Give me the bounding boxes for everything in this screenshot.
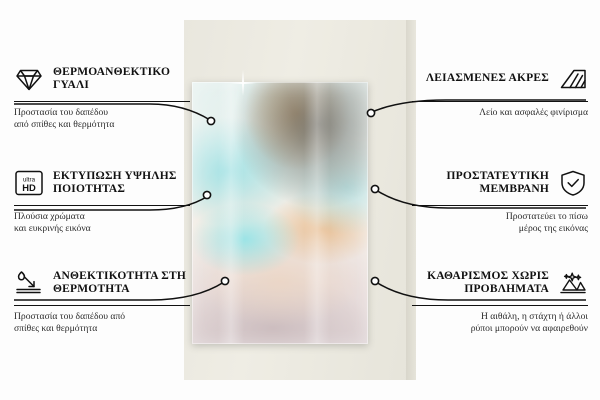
feature-header: ΠΡΟΣΤΑΤΕΥΤΙΚΗ ΜΕΜΒΡΑΝΗ bbox=[412, 166, 588, 200]
divider bbox=[412, 205, 588, 206]
divider bbox=[14, 101, 190, 102]
feature-heat-resistant-glass: ΘΕΡΜΟΑΝΘΕΚΤΙΚΟ ΓΥΑΛΙ Προστασία του δαπέδ… bbox=[14, 62, 190, 132]
feature-description: Προστασία του δαπέδου από σπίθες και θερ… bbox=[14, 311, 190, 336]
glass-edge-highlight bbox=[192, 82, 368, 344]
feature-description: Η αιθάλη, η στάχτη ή άλλοι ρύποι μπορούν… bbox=[412, 311, 588, 336]
feature-header: ΘΕΡΜΟΑΝΘΕΚΤΙΚΟ ΓΥΑΛΙ bbox=[14, 62, 190, 96]
ultra-hd-bottom-label: HD bbox=[22, 182, 36, 193]
ultra-hd-icon: ultra HD bbox=[14, 168, 44, 198]
feature-description: Προστατεύει το πίσω μέρος της εικόνας bbox=[412, 211, 588, 236]
polished-edges-icon bbox=[558, 64, 588, 94]
feature-title: ΕΚΤΥΠΩΣΗ ΥΨΗΛΗΣ ΠΟΙΟΤΗΤΑΣ bbox=[53, 170, 190, 197]
feature-description: Λείο και ασφαλές φινίρισμα bbox=[412, 107, 588, 119]
description-line: σπίθες και θερμότητα bbox=[14, 323, 97, 334]
feature-high-quality-print: ultra HD ΕΚΤΥΠΩΣΗ ΥΨΗΛΗΣ ΠΟΙΟΤΗΤΑΣ Πλούσ… bbox=[14, 166, 190, 236]
feature-title: ΛΕΙΑΣΜΕΝΕΣ ΑΚΡΕΣ bbox=[426, 72, 549, 86]
heat-resistance-icon bbox=[14, 268, 44, 298]
feature-title: ΑΝΘΕΚΤΙΚΟΤΗΤΑ ΣΤΗ ΘΕΡΜΟΤΗΤΑ bbox=[53, 270, 190, 297]
easy-cleaning-icon bbox=[558, 268, 588, 298]
description-line: Προστατεύει το πίσω bbox=[506, 211, 588, 222]
divider bbox=[412, 101, 588, 102]
infographic-page: ΘΕΡΜΟΑΝΘΕΚΤΙΚΟ ΓΥΑΛΙ Προστασία του δαπέδ… bbox=[0, 0, 600, 400]
diamond-icon bbox=[14, 64, 44, 94]
feature-title: ΚΑΘΑΡΙΣΜΟΣ ΧΩΡΙΣ ΠΡΟΒΛΗΜΑΤΑ bbox=[412, 270, 549, 297]
description-line: και ευκρινής εικόνα bbox=[14, 223, 91, 234]
divider bbox=[412, 305, 588, 306]
feature-protective-film: ΠΡΟΣΤΑΤΕΥΤΙΚΗ ΜΕΜΒΡΑΝΗ Προστατεύει το πί… bbox=[412, 166, 588, 236]
product-image bbox=[192, 82, 368, 344]
divider bbox=[14, 305, 190, 306]
feature-easy-cleaning: ΚΑΘΑΡΙΣΜΟΣ ΧΩΡΙΣ ΠΡΟΒΛΗΜΑΤΑ Η αιθάλη, η … bbox=[412, 266, 588, 336]
description-line: Προστασία του δαπέδου από bbox=[14, 311, 125, 322]
description-line: μέρος της εικόνας bbox=[519, 223, 588, 234]
feature-heat-resistance: ΑΝΘΕΚΤΙΚΟΤΗΤΑ ΣΤΗ ΘΕΡΜΟΤΗΤΑ Προστασία το… bbox=[14, 266, 190, 336]
description-line: Προστασία του δαπέδου bbox=[14, 107, 108, 118]
feature-polished-edges: ΛΕΙΑΣΜΕΝΕΣ ΑΚΡΕΣ Λείο και ασφαλές φινίρι… bbox=[412, 62, 588, 119]
feature-header: ΛΕΙΑΣΜΕΝΕΣ ΑΚΡΕΣ bbox=[412, 62, 588, 96]
feature-title: ΘΕΡΜΟΑΝΘΕΚΤΙΚΟ ΓΥΑΛΙ bbox=[53, 66, 190, 93]
description-line: Λείο και ασφαλές φινίρισμα bbox=[479, 107, 588, 118]
feature-title: ΠΡΟΣΤΑΤΕΥΤΙΚΗ ΜΕΜΒΡΑΝΗ bbox=[412, 170, 549, 197]
divider bbox=[14, 205, 190, 206]
description-line: από σπίθες και θερμότητα bbox=[14, 119, 114, 130]
feature-header: ΚΑΘΑΡΙΣΜΟΣ ΧΩΡΙΣ ΠΡΟΒΛΗΜΑΤΑ bbox=[412, 266, 588, 300]
description-line: ρύποι μπορούν να αφαιρεθούν bbox=[471, 323, 588, 334]
feature-description: Προστασία του δαπέδου από σπίθες και θερ… bbox=[14, 107, 190, 132]
shield-check-icon bbox=[558, 168, 588, 198]
description-line: Η αιθάλη, η στάχτη ή άλλοι bbox=[481, 311, 588, 322]
description-line: Πλούσια χρώματα bbox=[14, 211, 85, 222]
feature-description: Πλούσια χρώματα και ευκρινής εικόνα bbox=[14, 211, 190, 236]
feature-header: ΑΝΘΕΚΤΙΚΟΤΗΤΑ ΣΤΗ ΘΕΡΜΟΤΗΤΑ bbox=[14, 266, 190, 300]
feature-header: ultra HD ΕΚΤΥΠΩΣΗ ΥΨΗΛΗΣ ΠΟΙΟΤΗΤΑΣ bbox=[14, 166, 190, 200]
